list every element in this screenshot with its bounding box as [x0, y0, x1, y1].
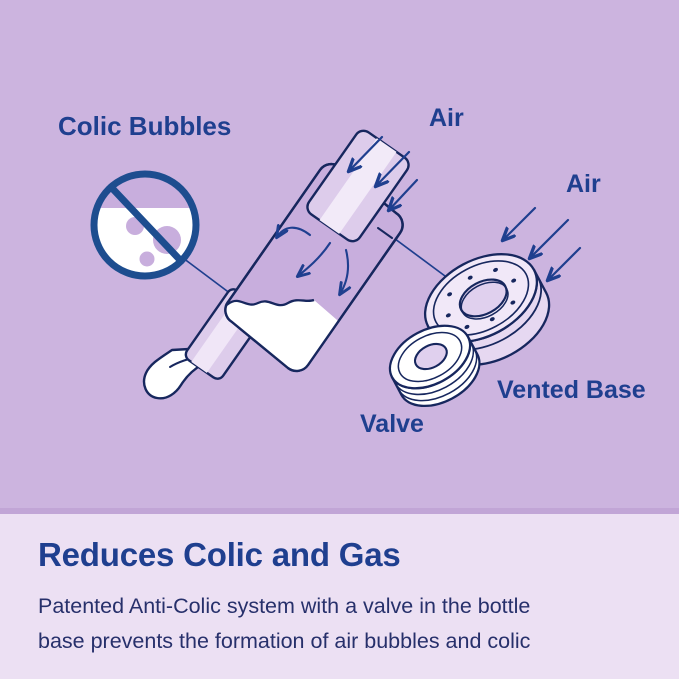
caption-heading: Reduces Colic and Gas — [38, 536, 401, 574]
caption-body: Patented Anti-Colic system with a valve … — [38, 589, 658, 659]
label-colic-bubbles: Colic Bubbles — [58, 111, 231, 141]
label-valve: Valve — [360, 410, 424, 438]
label-air-top: Air — [429, 104, 464, 132]
label-vented-base: Vented Base — [497, 376, 646, 404]
baby-bottle-icon — [144, 127, 420, 420]
anti-colic-diagram: Colic Bubbles Air Air Valve Vented Base — [0, 0, 679, 513]
caption-body-line-1: Patented Anti-Colic system with a valve … — [38, 589, 658, 624]
product-feature-infographic: Colic Bubbles Air Air Valve Vented Base … — [0, 0, 679, 679]
illustration-panel: Colic Bubbles Air Air Valve Vented Base — [0, 0, 679, 513]
caption-body-line-2: base prevents the formation of air bubbl… — [38, 624, 658, 659]
no-colic-bubbles-icon — [90, 170, 202, 276]
label-air-right: Air — [566, 170, 601, 198]
